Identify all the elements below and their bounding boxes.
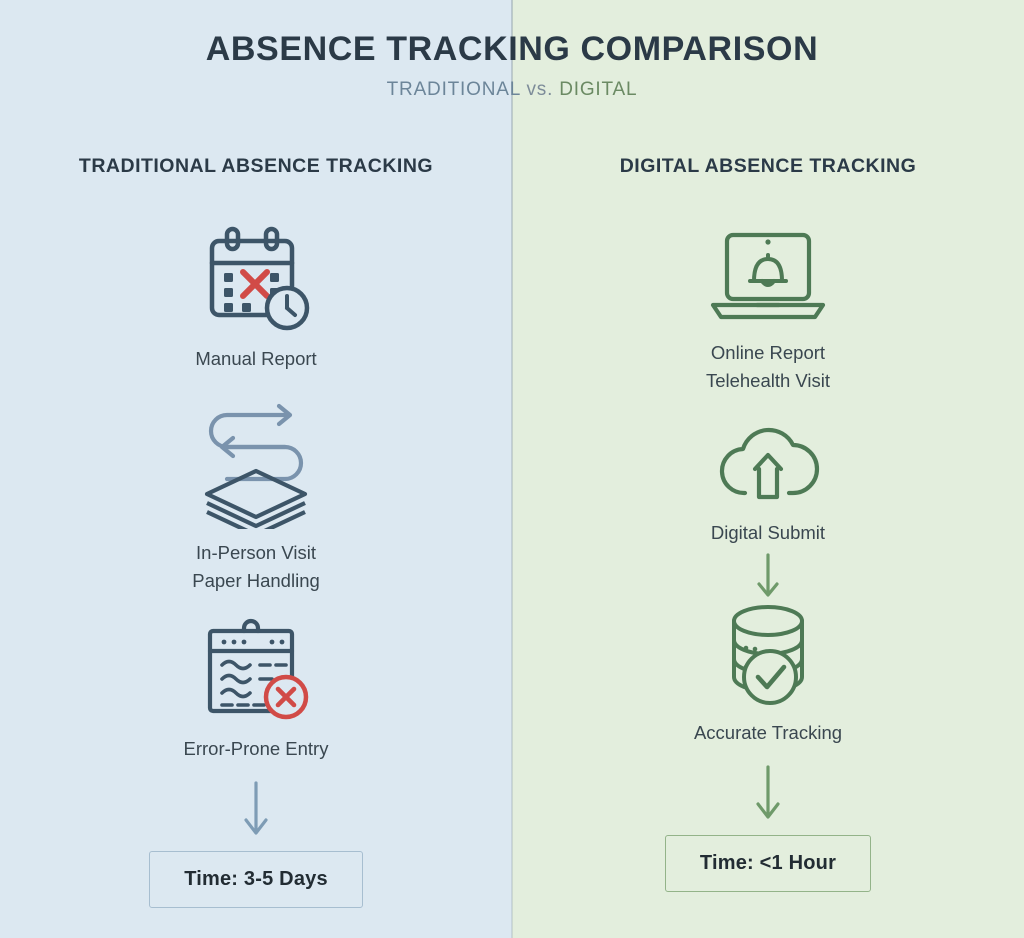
caption-digital-submit: Digital Submit [711,519,825,547]
laptop-bell-icon [707,225,829,329]
swap-arrows-paper-stack-icon [193,399,319,529]
caption-error-prone-entry: Error-Prone Entry [184,735,329,763]
time-box-digital: Time: <1 Hour [665,835,871,892]
down-arrow-icon [241,779,271,841]
flow-traditional: Manual Report [0,225,512,908]
infographic-root: TRADITIONAL ABSENCE TRACKING [0,0,1024,938]
panel-traditional: TRADITIONAL ABSENCE TRACKING [0,0,512,938]
down-arrow-icon-mid [754,553,782,601]
column-heading-digital: DIGITAL ABSENCE TRACKING [512,155,1024,178]
caption-accurate-tracking: Accurate Tracking [694,719,842,747]
time-box-traditional: Time: 3-5 Days [149,851,363,908]
cloud-upload-icon [707,421,829,509]
column-heading-traditional: TRADITIONAL ABSENCE TRACKING [0,155,512,178]
calendar-x-clock-icon [196,225,316,335]
caption-online-telehealth: Online Report Telehealth Visit [706,339,830,395]
panel-digital: DIGITAL ABSENCE TRACKING [512,0,1024,938]
caption-manual-report: Manual Report [195,345,316,373]
caption-in-person-paper: In-Person Visit Paper Handling [192,539,320,595]
down-arrow-icon [753,763,783,825]
panel-divider [511,0,513,938]
form-error-x-icon [196,617,316,725]
database-check-icon [710,601,826,709]
flow-digital: Online Report Telehealth Visit Digital S… [512,225,1024,892]
